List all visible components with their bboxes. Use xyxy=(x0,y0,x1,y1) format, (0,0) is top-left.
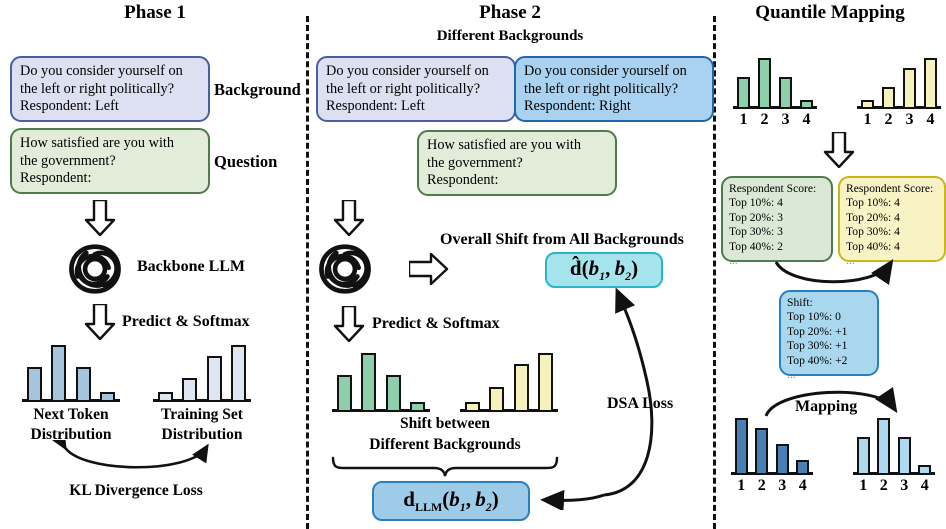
chart-p1-next-token-caption-l1: Next Token xyxy=(6,406,136,424)
phase2-shift-caption-l1: Shift between xyxy=(335,415,555,433)
phase2-background-left-box: Do you consider yourself on the left or … xyxy=(316,56,516,122)
phase2-bg-left-line1: Do you consider yourself on xyxy=(326,63,506,81)
respondent-score-box-yellow: Respondent Score: Top 10%: 4 Top 20%: 4 … xyxy=(838,176,946,262)
bar xyxy=(231,345,246,402)
chart-p1-training-set-caption-l1: Training Set xyxy=(137,406,267,424)
chart-tick-label: 1 xyxy=(857,111,878,129)
bar xyxy=(796,460,809,475)
quantile-score-arc xyxy=(770,258,900,292)
divider-phase1-phase2 xyxy=(306,16,309,529)
phase2-question-line2: the government? xyxy=(427,155,607,173)
chart-tick-label: 2 xyxy=(752,477,773,495)
phase1-background-line1: Do you consider yourself on xyxy=(20,63,200,81)
kl-divergence-loss-label: KL Divergence Loss xyxy=(46,482,226,500)
bar xyxy=(918,465,931,475)
quantile-arrow-down xyxy=(823,132,855,168)
phase2-overall-shift-label: Overall Shift from All Backgrounds xyxy=(440,231,684,249)
chart-tick-label: 3 xyxy=(894,477,915,495)
score-yellow-title: Respondent Score: xyxy=(846,182,938,196)
score-green-row-1: Top 20%: 3 xyxy=(729,211,825,225)
chart-tick-label: 3 xyxy=(775,111,796,129)
chart-p1-next-token xyxy=(22,342,120,402)
pill-d-llm-formula: dLLM(b1, b2) xyxy=(403,487,499,515)
bar xyxy=(877,418,890,475)
bar xyxy=(158,392,173,402)
phase2-bg-right-line2: the left or right politically? xyxy=(524,81,704,99)
score-green-title: Respondent Score: xyxy=(729,182,825,196)
bar xyxy=(857,437,870,475)
shift-ellipsis: ... xyxy=(787,368,871,382)
bar xyxy=(903,68,916,109)
bar xyxy=(861,100,874,109)
chart-tick-label: 1 xyxy=(853,477,874,495)
phase1-question-box: How satisfied are you with the governmen… xyxy=(10,128,210,194)
panel-title-phase2: Phase 2 xyxy=(440,2,580,24)
chart-tick-label: 3 xyxy=(772,477,793,495)
panel-title-quantile-mapping: Quantile Mapping xyxy=(725,2,935,24)
mapping-label: Mapping xyxy=(795,398,857,416)
backbone-llm-icon-phase2 xyxy=(312,238,378,300)
chart-tick-label: 1 xyxy=(731,477,752,495)
backbone-llm-icon xyxy=(62,238,128,300)
chart-qm-top-yellow: 1234 xyxy=(857,55,941,109)
shift-row-3: Top 40%: +2 xyxy=(787,354,871,368)
shift-title: Shift: xyxy=(787,296,871,310)
shift-row-0: Top 10%: 0 xyxy=(787,310,871,324)
phase1-label-background: Background xyxy=(214,80,301,100)
panel-subtitle-different-backgrounds: Different Backgrounds xyxy=(410,28,610,45)
chart-qm-bottom-dark: 1234 xyxy=(731,415,813,475)
chart-tick-label: 4 xyxy=(920,111,941,129)
bar xyxy=(182,378,197,403)
bar xyxy=(410,402,425,412)
score-yellow-row-1: Top 20%: 4 xyxy=(846,211,938,225)
score-yellow-row-2: Top 30%: 4 xyxy=(846,225,938,239)
phase2-question-line1: How satisfied are you with xyxy=(427,137,607,155)
pill-d-hat-formula: d̂(b1, b2) xyxy=(570,256,638,284)
bar xyxy=(27,367,42,402)
chart-qm-top-green: 1234 xyxy=(733,55,817,109)
bar xyxy=(924,58,937,109)
chart-p1-training-set xyxy=(153,342,251,402)
phase1-background-box: Do you consider yourself on the left or … xyxy=(10,56,210,122)
pill-d-llm: dLLM(b1, b2) xyxy=(372,481,530,521)
score-green-row-3: Top 40%: 2 xyxy=(729,240,825,254)
phase2-bg-right-line1: Do you consider yourself on xyxy=(524,63,704,81)
bar xyxy=(337,375,352,412)
phase1-arrow-down-to-chart xyxy=(84,304,116,340)
shift-row-2: Top 30%: +1 xyxy=(787,339,871,353)
bar xyxy=(882,87,895,109)
pill-d-hat: d̂(b1, b2) xyxy=(545,252,663,288)
bar xyxy=(489,387,504,412)
respondent-score-box-green: Respondent Score: Top 10%: 4 Top 20%: 3 … xyxy=(721,176,833,262)
shift-row-1: Top 20%: +1 xyxy=(787,325,871,339)
chart-tick-label: 4 xyxy=(796,111,817,129)
chart-tick-label: 2 xyxy=(754,111,775,129)
score-green-row-0: Top 10%: 4 xyxy=(729,196,825,210)
phase2-arrow-down-to-chart xyxy=(333,306,365,342)
phase1-arrow-down-to-llm xyxy=(84,200,116,236)
phase2-question-line3: Respondent: xyxy=(427,172,607,190)
phase1-question-line2: the government? xyxy=(20,153,200,171)
shift-box: Shift: Top 10%: 0 Top 20%: +1 Top 30%: +… xyxy=(779,290,879,376)
phase2-predict-softmax-label: Predict & Softmax xyxy=(372,315,500,333)
phase1-backbone-llm-label: Backbone LLM xyxy=(137,258,245,276)
bar xyxy=(776,444,789,475)
phase2-question-box: How satisfied are you with the governmen… xyxy=(417,130,617,196)
chart-tick-label: 3 xyxy=(899,111,920,129)
phase2-background-right-box: Do you consider yourself on the left or … xyxy=(514,56,714,122)
chart-tick-label: 2 xyxy=(878,111,899,129)
bar xyxy=(361,353,376,412)
chart-p2-shift-left xyxy=(332,350,430,412)
phase1-question-line3: Respondent: xyxy=(20,170,200,188)
bar xyxy=(779,77,792,109)
score-yellow-row-3: Top 40%: 4 xyxy=(846,240,938,254)
phase1-predict-softmax-label: Predict & Softmax xyxy=(122,313,250,331)
kl-divergence-arc xyxy=(50,440,220,480)
bar xyxy=(758,58,771,109)
bar xyxy=(800,100,813,109)
bar xyxy=(207,356,222,402)
bar xyxy=(386,375,401,412)
chart-tick-label: 4 xyxy=(915,477,936,495)
bar xyxy=(898,437,911,475)
chart-tick-label: 2 xyxy=(874,477,895,495)
bar xyxy=(755,428,768,475)
phase1-background-line2: the left or right politically? xyxy=(20,81,200,99)
phase1-question-line1: How satisfied are you with xyxy=(20,135,200,153)
bar xyxy=(465,402,480,412)
score-green-row-2: Top 30%: 3 xyxy=(729,225,825,239)
bar xyxy=(51,345,66,402)
bar xyxy=(735,418,748,475)
phase2-arrow-right-to-dhat xyxy=(409,253,449,285)
dsa-loss-label: DSA Loss xyxy=(607,395,673,413)
chart-qm-bottom-light: 1234 xyxy=(853,415,935,475)
bar xyxy=(100,392,115,402)
phase2-bg-left-line3: Respondent: Left xyxy=(326,98,506,116)
chart-tick-label: 4 xyxy=(793,477,814,495)
bar xyxy=(737,77,750,109)
phase1-background-line3: Respondent: Left xyxy=(20,98,200,116)
phase2-bg-right-line3: Respondent: Right xyxy=(524,98,704,116)
bar xyxy=(76,367,91,402)
score-yellow-row-0: Top 10%: 4 xyxy=(846,196,938,210)
phase2-shift-caption-l2: Different Backgrounds xyxy=(335,436,555,454)
phase2-arrow-down-to-llm xyxy=(333,200,365,236)
chart-tick-label: 1 xyxy=(733,111,754,129)
phase2-bg-left-line2: the left or right politically? xyxy=(326,81,506,99)
phase1-label-question: Question xyxy=(214,152,277,172)
panel-title-phase1: Phase 1 xyxy=(85,2,225,24)
